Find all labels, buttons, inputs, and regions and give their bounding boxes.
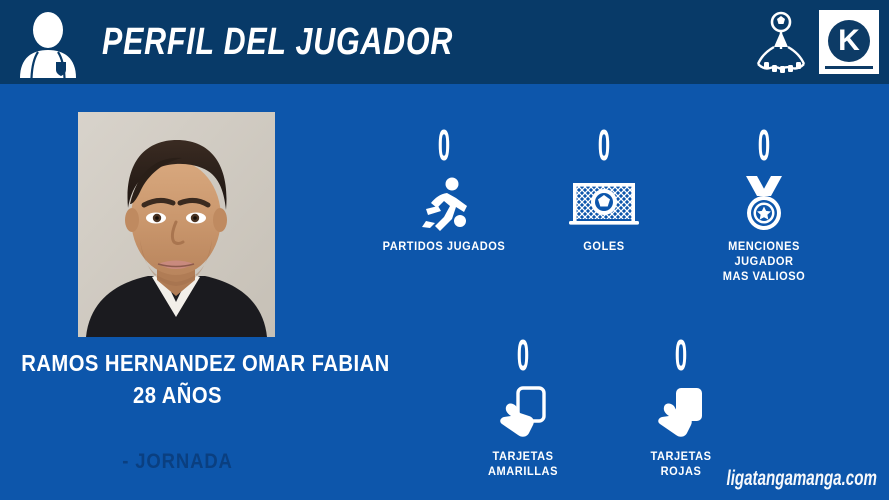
stat-value: 0 bbox=[727, 124, 802, 168]
stat-value: 0 bbox=[407, 124, 482, 168]
jornada-label: - JORNADA bbox=[21, 450, 333, 474]
stat-label-line: PARTIDOS JUGADOS bbox=[375, 239, 513, 254]
player-profile-card: PERFIL DEL JUGADOR bbox=[0, 0, 889, 500]
stat-label-line: TARJETAS bbox=[454, 449, 592, 464]
k-sponsor-logo: K bbox=[819, 10, 879, 74]
player-avatar-icon bbox=[12, 6, 84, 78]
stat-label: TARJETAS AMARILLAS bbox=[454, 449, 592, 479]
red-card-hand-icon bbox=[606, 384, 756, 442]
medal-icon bbox=[689, 174, 839, 232]
stat-label-line: JUGADOR bbox=[695, 254, 833, 269]
stat-tarjetas-rojas: 0 TARJETAS ROJAS bbox=[606, 334, 756, 479]
stat-value: 0 bbox=[486, 334, 561, 378]
league-emblem-icon bbox=[753, 11, 809, 73]
stat-label: MENCIONES JUGADOR MAS VALIOSO bbox=[695, 239, 833, 284]
stat-label-line: MENCIONES bbox=[695, 239, 833, 254]
yellow-card-hand-icon bbox=[448, 384, 598, 442]
goal-net-icon bbox=[529, 174, 679, 232]
header-bar: PERFIL DEL JUGADOR bbox=[0, 0, 889, 84]
stat-label-line: AMARILLAS bbox=[454, 464, 592, 479]
running-player-icon bbox=[369, 174, 519, 232]
stat-label-line: MAS VALIOSO bbox=[695, 269, 833, 284]
page-title: PERFIL DEL JUGADOR bbox=[102, 21, 453, 64]
stat-tarjetas-amarillas: 0 TARJETAS AMARILLAS bbox=[448, 334, 598, 479]
k-logo-bar bbox=[825, 66, 873, 69]
stat-menciones-jugador-mas-valioso: 0 MENCIONES JUGADOR MAS VALIOSO bbox=[689, 124, 839, 284]
stat-partidos-jugados: 0 PARTIDOS JUGADOS bbox=[369, 124, 519, 254]
stat-label-line: GOLES bbox=[535, 239, 673, 254]
stat-value: 0 bbox=[644, 334, 719, 378]
site-watermark: ligatangamanga.com bbox=[727, 467, 877, 491]
player-age: 28 AÑOS bbox=[21, 382, 333, 409]
header-logos: K bbox=[753, 6, 879, 78]
stat-label: PARTIDOS JUGADOS bbox=[375, 239, 513, 254]
stat-goles: 0 GOLES bbox=[529, 124, 679, 254]
player-identity: RAMOS HERNANDEZ OMAR FABIAN 28 AÑOS bbox=[0, 350, 355, 409]
stat-value: 0 bbox=[567, 124, 642, 168]
stat-label-line: TARJETAS bbox=[612, 449, 750, 464]
stat-label: GOLES bbox=[535, 239, 673, 254]
player-photo bbox=[78, 112, 275, 337]
player-name: RAMOS HERNANDEZ OMAR FABIAN bbox=[21, 350, 333, 377]
k-logo-letter: K bbox=[828, 20, 870, 62]
